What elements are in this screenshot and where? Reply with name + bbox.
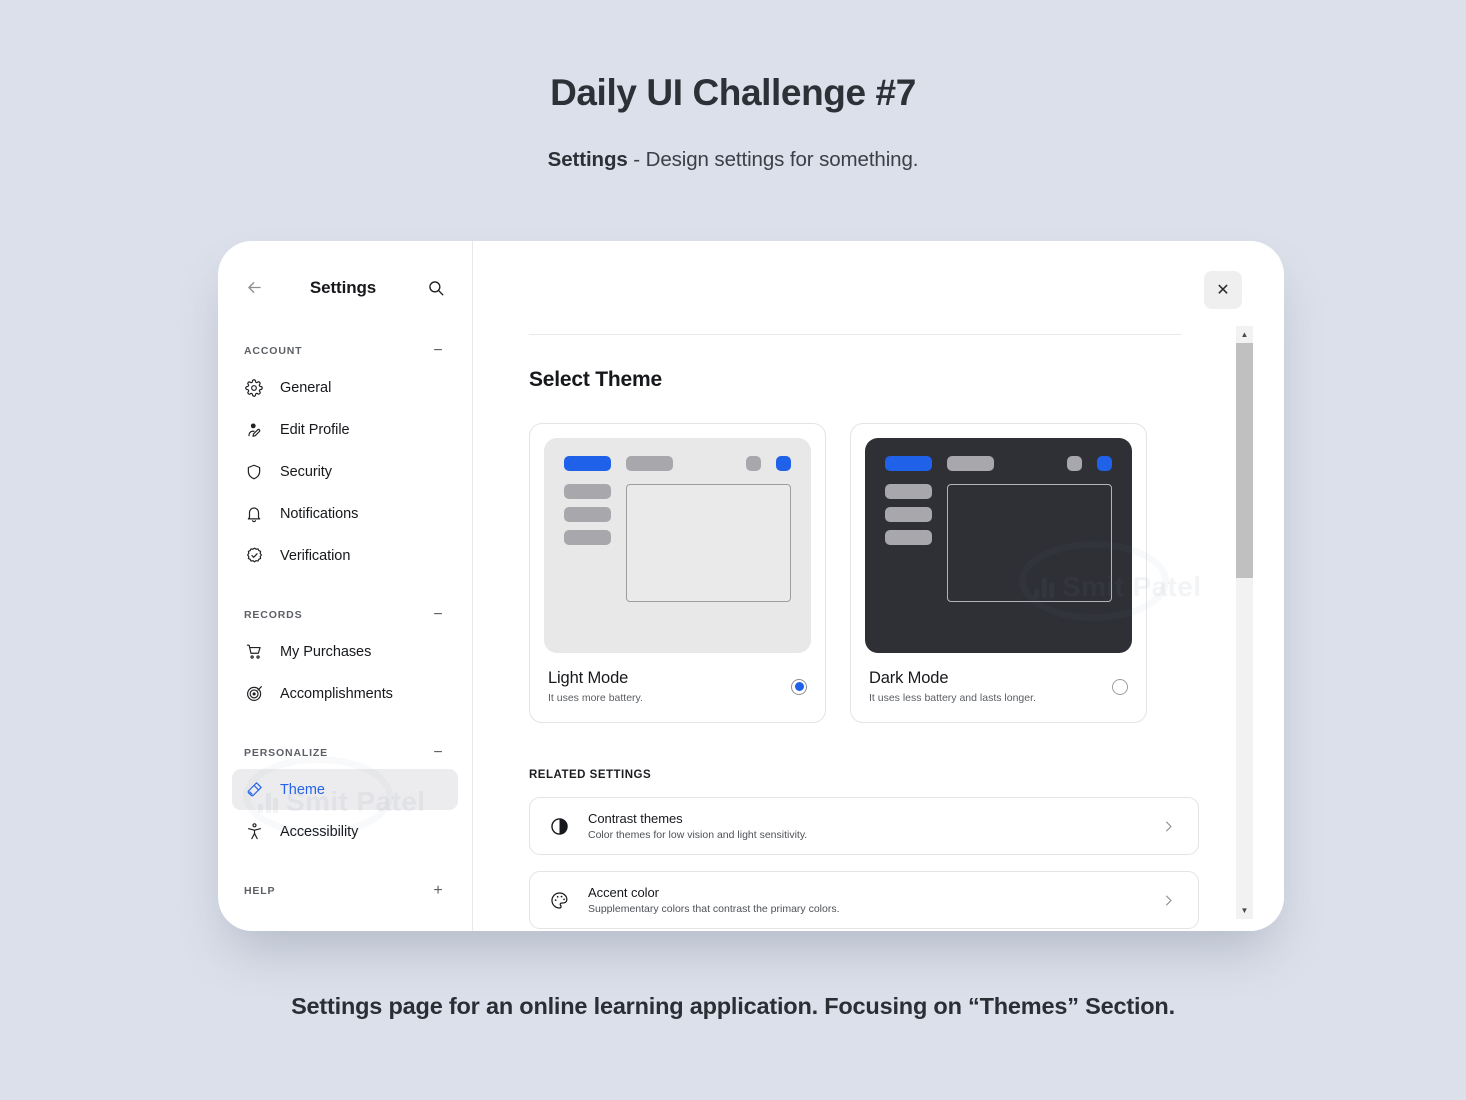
sidebar-item-notifications[interactable]: Notifications <box>232 493 458 534</box>
sidebar-item-accessibility[interactable]: Accessibility <box>232 811 458 852</box>
preview-sidebar <box>564 484 611 602</box>
related-item-title: Contrast themes <box>588 811 1144 826</box>
sidebar-item-verification[interactable]: Verification <box>232 535 458 576</box>
group-header-records[interactable]: RECORDS − <box>232 600 458 630</box>
palette-icon <box>547 888 571 912</box>
sidebar-item-label: Accessibility <box>280 824 358 840</box>
theme-options: Light Mode It uses more battery. <box>529 423 1199 723</box>
preview-dot-grey <box>746 456 761 471</box>
group-collapse-toggle[interactable]: − <box>431 607 445 623</box>
preview-panel <box>626 484 791 602</box>
target-icon <box>244 684 264 704</box>
group-collapse-toggle[interactable]: − <box>431 745 445 761</box>
user-edit-icon <box>244 420 264 440</box>
theme-card-footer: Light Mode It uses more battery. <box>544 669 811 704</box>
sidebar-item-accomplishments[interactable]: Accomplishments <box>232 673 458 714</box>
shopping-cart-icon <box>244 642 264 662</box>
contrast-icon <box>547 814 571 838</box>
preview-body <box>885 484 1112 602</box>
nav-group-account: ACCOUNT − General <box>232 336 458 576</box>
theme-preview-dark <box>865 438 1132 653</box>
group-header-account[interactable]: ACCOUNT − <box>232 336 458 366</box>
theme-card-text: Light Mode It uses more battery. <box>548 669 791 704</box>
preview-dot-accent <box>776 456 791 471</box>
scroll-down-arrow-icon[interactable]: ▼ <box>1236 902 1253 919</box>
sidebar: Settings ACCOUNT − General <box>218 241 473 931</box>
sidebar-item-label: Edit Profile <box>280 422 350 438</box>
sidebar-item-label: Notifications <box>280 506 358 522</box>
group-header-help[interactable]: HELP + <box>232 876 458 906</box>
page-subtitle: Settings - Design settings for something… <box>0 148 1466 172</box>
sidebar-item-general[interactable]: General <box>232 367 458 408</box>
group-label: HELP <box>244 885 275 897</box>
theme-description: It uses more battery. <box>548 692 791 704</box>
chevron-right-icon <box>1161 893 1176 908</box>
group-label: ACCOUNT <box>244 345 302 357</box>
scrollbar-thumb[interactable] <box>1236 343 1253 578</box>
preview-bar <box>564 530 611 545</box>
preview-bar <box>885 507 932 522</box>
theme-name: Dark Mode <box>869 669 1112 688</box>
theme-card-light-mode[interactable]: Light Mode It uses more battery. <box>529 423 826 723</box>
group-label: RECORDS <box>244 609 302 621</box>
theme-name: Light Mode <box>548 669 791 688</box>
group-label: PERSONALIZE <box>244 747 328 759</box>
theme-card-text: Dark Mode It uses less battery and lasts… <box>869 669 1112 704</box>
preview-panel <box>947 484 1112 602</box>
paint-roller-icon <box>244 780 264 800</box>
sidebar-item-label: Theme <box>280 782 325 798</box>
sidebar-title: Settings <box>263 278 423 298</box>
content-area: ✕ Select Theme <box>474 241 1284 931</box>
sidebar-item-label: Security <box>280 464 332 480</box>
preview-sidebar <box>885 484 932 602</box>
theme-radio-dark-mode[interactable] <box>1112 679 1128 695</box>
sidebar-item-label: General <box>280 380 331 396</box>
related-item-description: Color themes for low vision and light se… <box>588 829 1144 841</box>
sidebar-item-label: Verification <box>280 548 350 564</box>
sidebar-item-label: My Purchases <box>280 644 371 660</box>
gear-icon <box>244 378 264 398</box>
preview-topbar <box>564 456 791 471</box>
page-header: Daily UI Challenge #7 Settings - Design … <box>0 0 1466 172</box>
theme-card-footer: Dark Mode It uses less battery and lasts… <box>865 669 1132 704</box>
sidebar-item-my-purchases[interactable]: My Purchases <box>232 631 458 672</box>
related-item-contrast-themes[interactable]: Contrast themes Color themes for low vis… <box>529 797 1199 855</box>
theme-preview-light <box>544 438 811 653</box>
bell-icon <box>244 504 264 524</box>
page-title: Daily UI Challenge #7 <box>0 72 1466 114</box>
shield-icon <box>244 462 264 482</box>
sidebar-header: Settings <box>232 241 458 334</box>
preview-pill-grey <box>626 456 673 471</box>
group-expand-toggle[interactable]: + <box>431 883 445 899</box>
related-item-text: Contrast themes Color themes for low vis… <box>588 811 1144 841</box>
preview-pill-accent <box>564 456 611 471</box>
nav-group-help: HELP + <box>232 876 458 906</box>
chevron-right-icon <box>1161 819 1176 834</box>
content-scroll-region: Select Theme <box>474 335 1254 931</box>
nav-group-personalize: PERSONALIZE − Theme <box>232 738 458 852</box>
close-button[interactable]: ✕ <box>1204 271 1242 309</box>
spacer <box>232 576 458 598</box>
theme-description: It uses less battery and lasts longer. <box>869 692 1112 704</box>
page-title-select-theme: Select Theme <box>529 368 1199 392</box>
related-item-accent-color[interactable]: Accent color Supplementary colors that c… <box>529 871 1199 929</box>
group-header-personalize[interactable]: PERSONALIZE − <box>232 738 458 768</box>
sidebar-item-label: Accomplishments <box>280 686 393 702</box>
related-item-description: Supplementary colors that contrast the p… <box>588 903 1144 915</box>
preview-topbar <box>885 456 1112 471</box>
verified-badge-icon <box>244 546 264 566</box>
page-subtitle-bold: Settings <box>548 148 628 171</box>
scroll-up-arrow-icon[interactable]: ▲ <box>1236 326 1253 343</box>
nav-group-records: RECORDS − My Purchases <box>232 600 458 714</box>
theme-card-dark-mode[interactable]: Dark Mode It uses less battery and lasts… <box>850 423 1147 723</box>
preview-bar <box>885 530 932 545</box>
preview-bar <box>564 484 611 499</box>
theme-radio-light-mode[interactable] <box>791 679 807 695</box>
preview-bar <box>564 507 611 522</box>
page-subtitle-rest: - Design settings for something. <box>628 148 919 171</box>
spacer <box>232 852 458 874</box>
accessibility-icon <box>244 822 264 842</box>
related-settings-heading: RELATED SETTINGS <box>529 769 1199 781</box>
preview-pill-accent <box>885 456 932 471</box>
settings-modal: Settings ACCOUNT − General <box>218 241 1284 931</box>
preview-dot-grey <box>1067 456 1082 471</box>
page-caption: Settings page for an online learning app… <box>0 993 1466 1020</box>
related-item-title: Accent color <box>588 885 1144 900</box>
scrollbar-track[interactable] <box>1236 343 1253 902</box>
preview-pill-grey <box>947 456 994 471</box>
related-item-text: Accent color Supplementary colors that c… <box>588 885 1144 915</box>
sidebar-item-edit-profile[interactable]: Edit Profile <box>232 409 458 450</box>
group-collapse-toggle[interactable]: − <box>431 343 445 359</box>
search-icon[interactable] <box>423 275 449 301</box>
preview-body <box>564 484 791 602</box>
sidebar-item-security[interactable]: Security <box>232 451 458 492</box>
spacer <box>232 714 458 736</box>
preview-dot-accent <box>1097 456 1112 471</box>
content-scrollbar[interactable]: ▲ ▼ <box>1236 326 1253 919</box>
sidebar-item-theme[interactable]: Theme <box>232 769 458 810</box>
preview-bar <box>885 484 932 499</box>
